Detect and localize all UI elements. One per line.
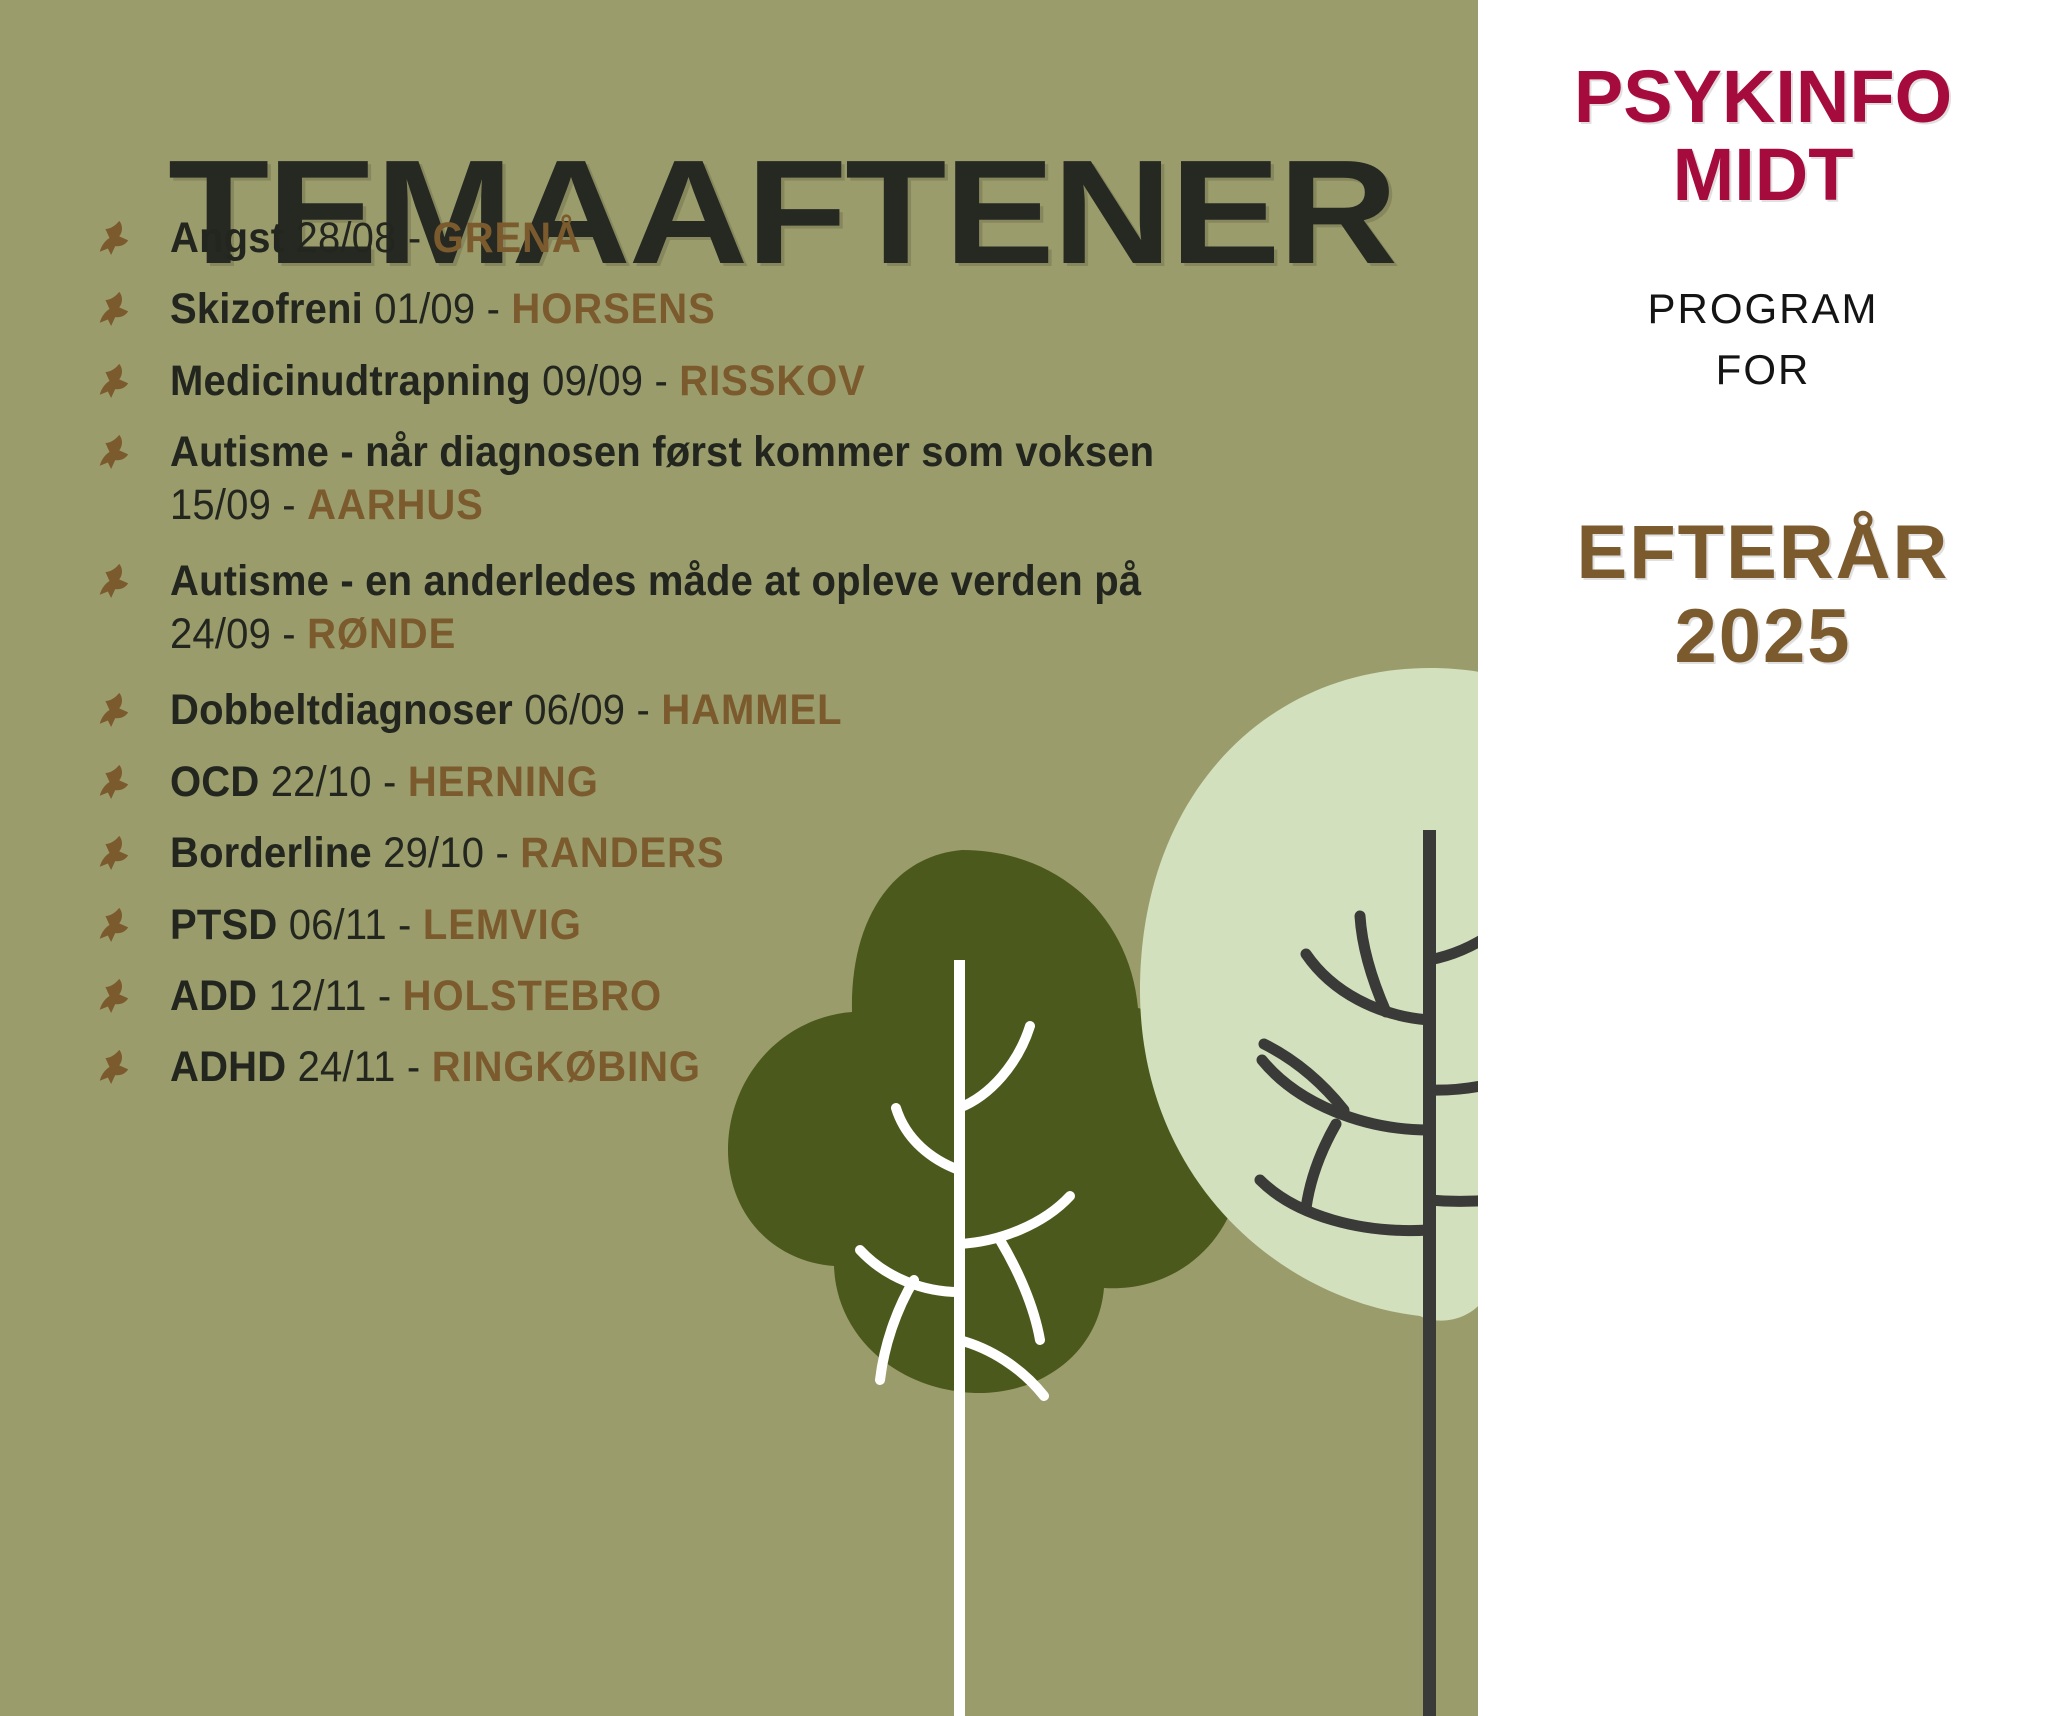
event-city: HERNING <box>408 758 599 806</box>
event-row: ADHD 24/11 - RINGKØBING <box>90 1041 1270 1093</box>
event-row: Autisme - en anderledes måde at opleve v… <box>90 555 1270 660</box>
event-topic: ADD <box>170 972 257 1020</box>
event-separator: - <box>378 972 392 1020</box>
event-city: LEMVIG <box>423 901 582 949</box>
event-date: 29/10 <box>383 829 484 877</box>
event-row: Dobbeltdiagnoser 06/09 - HAMMEL <box>90 684 1270 736</box>
event-detail: 15/09 - AARHUS <box>170 479 1193 531</box>
event-detail: 24/09 - RØNDE <box>170 608 1193 660</box>
event-separator: - <box>398 901 412 949</box>
season-label: EFTERÅR <box>1478 511 2048 595</box>
event-topic: Medicinudtrapning <box>170 357 531 405</box>
event-row: Angst 28/08 - GRENÅ <box>90 212 1270 264</box>
pushpin-icon <box>90 1045 170 1097</box>
olive-background-panel: TEMAAFTENER Angst 28/08 - GRENÅ Skizofre… <box>0 0 1478 1716</box>
pushpin-icon <box>90 430 170 482</box>
event-text: Autisme - en anderledes måde at opleve v… <box>170 555 1193 660</box>
event-date: 06/11 <box>289 901 387 949</box>
event-text: Borderline 29/10 - RANDERS <box>170 827 1193 879</box>
event-row: Medicinudtrapning 09/09 - RISSKOV <box>90 355 1270 407</box>
event-city: AARHUS <box>307 481 484 529</box>
event-city: RØNDE <box>307 610 456 658</box>
event-separator: - <box>282 481 296 529</box>
event-text: Angst 28/08 - GRENÅ <box>170 212 1193 264</box>
event-separator: - <box>487 285 501 333</box>
event-city: RISSKOV <box>679 357 866 405</box>
event-topic: OCD <box>170 758 259 806</box>
event-list: Angst 28/08 - GRENÅ Skizofreni 01/09 - H… <box>90 212 1270 1113</box>
event-row: OCD 22/10 - HERNING <box>90 756 1270 808</box>
event-row: Skizofreni 01/09 - HORSENS <box>90 283 1270 335</box>
pushpin-icon <box>90 760 170 812</box>
event-topic: Dobbeltdiagnoser <box>170 686 513 734</box>
event-city: HAMMEL <box>661 686 842 734</box>
pushpin-icon <box>90 688 170 740</box>
event-topic: Autisme - når diagnosen først kommer som… <box>170 428 1154 476</box>
event-separator: - <box>383 758 397 806</box>
poster-root: TEMAAFTENER Angst 28/08 - GRENÅ Skizofre… <box>0 0 2048 1716</box>
pushpin-icon <box>90 831 170 883</box>
event-row: Autisme - når diagnosen først kommer som… <box>90 426 1270 531</box>
event-date: 06/09 <box>524 686 625 734</box>
pushpin-icon <box>90 359 170 411</box>
event-separator: - <box>407 1043 421 1091</box>
pushpin-icon <box>90 287 170 339</box>
pushpin-icon <box>90 559 170 611</box>
brand-midt: MIDT <box>1478 136 2048 214</box>
pushpin-icon <box>90 903 170 955</box>
event-topic: Skizofreni <box>170 285 363 333</box>
label-for: FOR <box>1478 340 2048 401</box>
event-city: HORSENS <box>511 285 715 333</box>
event-text: Dobbeltdiagnoser 06/09 - HAMMEL <box>170 684 1193 736</box>
event-text: Medicinudtrapning 09/09 - RISSKOV <box>170 355 1193 407</box>
event-row: ADD 12/11 - HOLSTEBRO <box>90 970 1270 1022</box>
event-date: 24/11 <box>298 1043 396 1091</box>
event-city: RANDERS <box>520 829 724 877</box>
event-separator: - <box>408 214 422 262</box>
event-separator: - <box>654 357 668 405</box>
event-separator: - <box>495 829 509 877</box>
event-date: 15/09 <box>170 481 271 529</box>
event-topic: Angst <box>170 214 284 262</box>
event-date: 24/09 <box>170 610 271 658</box>
brand-psykinfo: PSYKINFO <box>1478 58 2048 136</box>
event-text: PTSD 06/11 - LEMVIG <box>170 899 1193 951</box>
label-program: PROGRAM <box>1478 279 2048 340</box>
event-city: GRENÅ <box>433 214 582 262</box>
event-separator: - <box>637 686 651 734</box>
event-date: 12/11 <box>269 972 367 1020</box>
event-date: 22/10 <box>271 758 372 806</box>
event-separator: - <box>282 610 296 658</box>
event-text: Skizofreni 01/09 - HORSENS <box>170 283 1193 335</box>
pushpin-icon <box>90 216 170 268</box>
event-topic: Borderline <box>170 829 372 877</box>
event-city: HOLSTEBRO <box>403 972 662 1020</box>
event-date: 28/08 <box>296 214 397 262</box>
event-city: RINGKØBING <box>432 1043 701 1091</box>
right-sidebar: PSYKINFO MIDT PROGRAM FOR EFTERÅR 2025 <box>1478 0 2048 1716</box>
event-topic: ADHD <box>170 1043 286 1091</box>
pushpin-icon <box>90 974 170 1026</box>
event-topic: Autisme - en anderledes måde at opleve v… <box>170 557 1141 605</box>
event-text: Autisme - når diagnosen først kommer som… <box>170 426 1193 531</box>
event-text: OCD 22/10 - HERNING <box>170 756 1193 808</box>
event-date: 01/09 <box>374 285 475 333</box>
event-row: Borderline 29/10 - RANDERS <box>90 827 1270 879</box>
season-year: 2025 <box>1478 595 2048 679</box>
event-date: 09/09 <box>542 357 643 405</box>
event-topic: PTSD <box>170 901 277 949</box>
event-text: ADHD 24/11 - RINGKØBING <box>170 1041 1193 1093</box>
event-text: ADD 12/11 - HOLSTEBRO <box>170 970 1193 1022</box>
event-row: PTSD 06/11 - LEMVIG <box>90 899 1270 951</box>
